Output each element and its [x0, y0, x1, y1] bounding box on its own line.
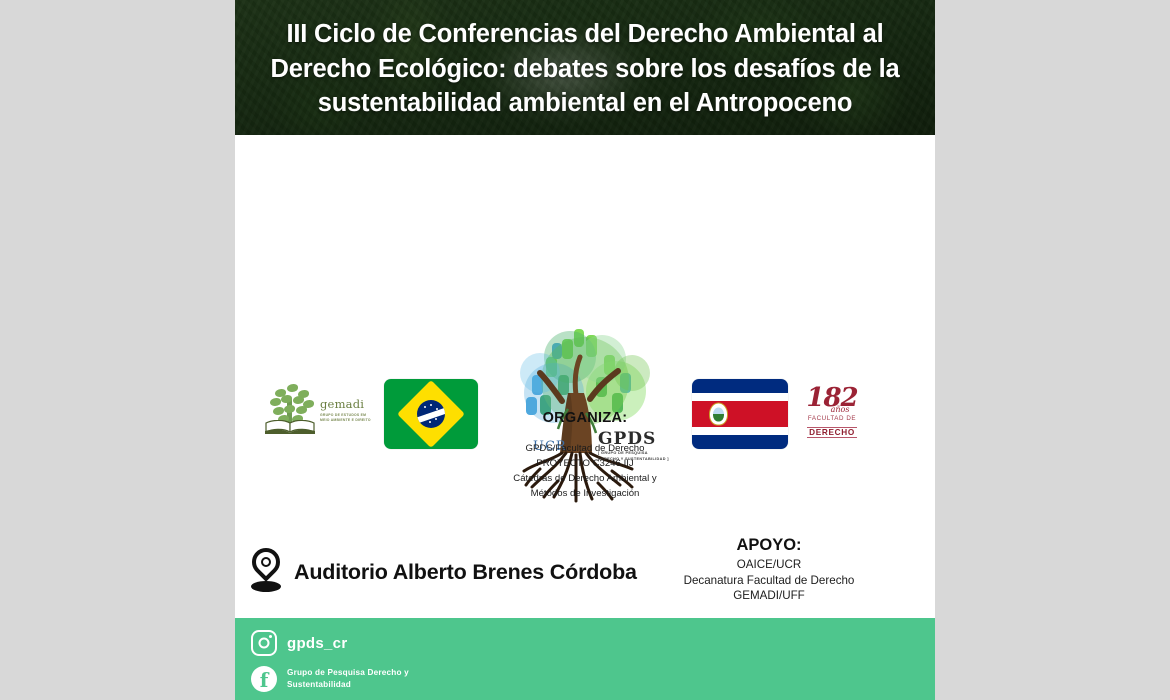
apoyo-section: APOYO: OAICE/UCR Decanatura Facultad de …: [639, 536, 899, 604]
apoyo-line: OAICE/UCR: [639, 557, 899, 573]
facebook-page-name: Grupo de Pesquisa Derecho y Sustentabili…: [287, 667, 409, 691]
apoyo-line: GEMADI/UFF: [639, 588, 899, 604]
facebook-page-line-2: Sustentabilidad: [287, 679, 409, 691]
gemadi-name: gemadi: [320, 397, 371, 411]
page-title: III Ciclo de Conferencias del Derecho Am…: [267, 17, 903, 121]
instagram-link[interactable]: gpds_cr: [251, 630, 347, 656]
organiza-line: Métodos de Investigación: [235, 487, 935, 502]
organiza-section: ORGANIZA: GPDS/Facultad de Derecho PROYE…: [235, 410, 935, 501]
organiza-line: GPDS/Facultad de Derecho: [235, 442, 935, 457]
venue-block: Auditorio Alberto Brenes Córdoba: [249, 548, 637, 596]
facebook-link[interactable]: f Grupo de Pesquisa Derecho y Sustentabi…: [251, 666, 409, 692]
facebook-icon[interactable]: f: [251, 666, 277, 692]
facebook-page-line-1: Grupo de Pesquisa Derecho y: [287, 667, 409, 679]
organiza-lines: GPDS/Facultad de Derecho PROYECTO C3246 …: [235, 442, 935, 501]
apoyo-lines: OAICE/UCR Decanatura Facultad de Derecho…: [639, 557, 899, 604]
poster-page: III Ciclo de Conferencias del Derecho Am…: [0, 0, 1170, 700]
header-banner: III Ciclo de Conferencias del Derecho Am…: [235, 0, 935, 135]
organiza-line: PROYECTO C3246 IIJ: [235, 457, 935, 472]
poster-card: III Ciclo de Conferencias del Derecho Am…: [235, 0, 935, 700]
venue-name: Auditorio Alberto Brenes Córdoba: [294, 560, 637, 585]
organiza-line: Cátedras de Derecho Ambiental y: [235, 472, 935, 487]
location-pin-icon: [249, 548, 283, 596]
apoyo-heading: APOYO:: [639, 536, 899, 555]
instagram-handle: gpds_cr: [287, 635, 347, 652]
instagram-icon[interactable]: [251, 630, 277, 656]
logos-strip: gemadi GRUPO DE ESTUDOS EM MEIO AMBIENTE…: [235, 135, 935, 390]
footer-bar: gpds_cr f Grupo de Pesquisa Derecho y Su…: [235, 618, 935, 700]
organiza-heading: ORGANIZA:: [235, 410, 935, 426]
apoyo-line: Decanatura Facultad de Derecho: [639, 573, 899, 589]
